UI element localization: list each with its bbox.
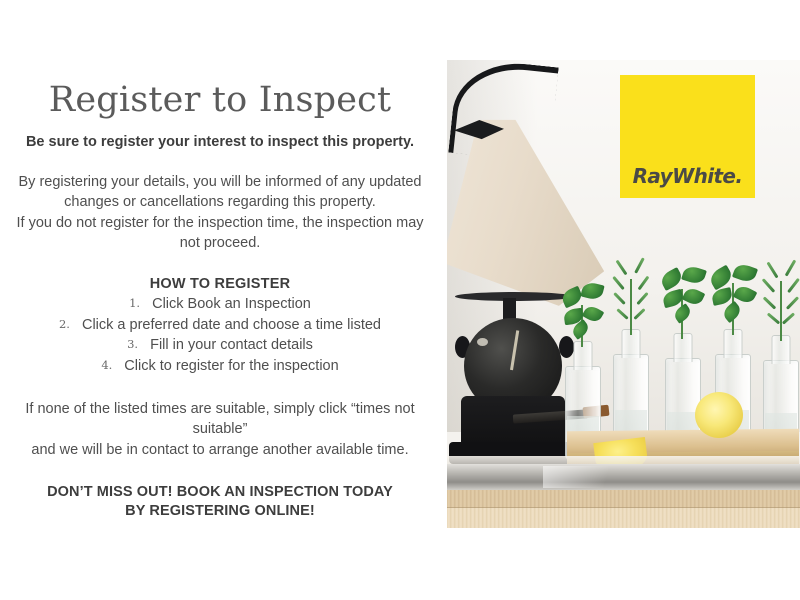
lead-statement: Be sure to register your interest to ins…	[0, 133, 440, 152]
paragraph-arrange-another-time: and we will be in contact to arrange ano…	[0, 440, 440, 461]
list-item: 4.Click to register for the inspection	[0, 356, 440, 377]
spacer	[0, 461, 440, 483]
herb-stem	[780, 281, 782, 341]
lemon-icon	[695, 392, 743, 438]
cta-line-1: DON’T MISS OUT! BOOK AN INSPECTION TODAY	[0, 483, 440, 503]
list-item: 2.Click a preferred date and choose a ti…	[0, 315, 440, 336]
cabinet-top-rail	[447, 490, 800, 508]
slide-canvas: Register to Inspect Be sure to register …	[0, 0, 800, 600]
text-column: Register to Inspect Be sure to register …	[0, 82, 440, 522]
step-number: 1.	[129, 296, 140, 310]
paragraph-inspection-may-not-proceed: If you do not register for the inspectio…	[0, 213, 440, 254]
bottle-neck	[674, 333, 693, 362]
step-text: Click Book an Inspection	[152, 296, 311, 312]
step-number: 3.	[127, 337, 138, 351]
step-text: Fill in your contact details	[150, 337, 313, 353]
page-title: Register to Inspect	[0, 82, 440, 119]
how-to-register-heading: HOW TO REGISTER	[0, 276, 440, 292]
cabinet-front	[447, 508, 800, 528]
step-text: Click a preferred date and choose a time…	[82, 317, 381, 333]
list-item: 1.Click Book an Inspection	[0, 294, 440, 315]
herb-stem	[630, 279, 632, 335]
cta-line-2: BY REGISTERING ONLINE!	[0, 502, 440, 522]
ray-white-logo: RayWhite.	[620, 75, 755, 198]
kitchen-scale-knob-right-icon	[559, 336, 574, 358]
spacer	[0, 254, 440, 276]
step-number: 2.	[59, 317, 70, 331]
kitchen-scale-glint	[477, 338, 488, 346]
bottle-neck	[574, 341, 593, 370]
how-to-register-steps: 1.Click Book an Inspection 2.Click a pre…	[0, 294, 440, 377]
paragraph-registering-details: By registering your details, you will be…	[0, 172, 440, 213]
spacer	[0, 377, 440, 399]
step-text: Click to register for the inspection	[124, 358, 338, 374]
paragraph-times-not-suitable: If none of the listed times are suitable…	[0, 399, 440, 440]
step-number: 4.	[101, 358, 112, 372]
list-item: 3.Fill in your contact details	[0, 335, 440, 356]
ray-white-logo-text: RayWhite.	[633, 164, 743, 188]
counter-steel-glint	[543, 466, 633, 488]
